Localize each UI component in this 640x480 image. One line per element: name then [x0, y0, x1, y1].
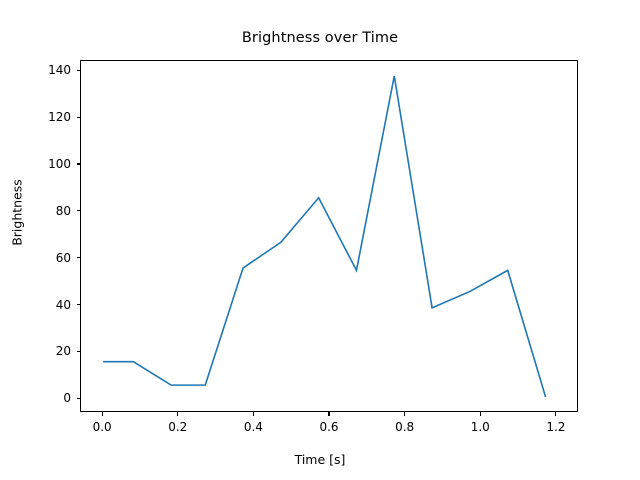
y-tick-label: 60 [20, 251, 71, 265]
x-tick-label: 0.2 [148, 420, 208, 434]
y-tick-label: 80 [20, 204, 71, 218]
x-tick-label: 0.8 [375, 420, 435, 434]
brightness-line-series [103, 76, 545, 397]
x-tick-label: 0.6 [299, 420, 359, 434]
y-tick-label: 40 [20, 298, 71, 312]
chart-title: Brightness over Time [0, 30, 640, 46]
x-axis-label: Time [s] [0, 452, 640, 467]
x-tick-label: 1.2 [526, 420, 586, 434]
x-tick-label: 0.0 [72, 420, 132, 434]
y-tick-label: 140 [20, 63, 71, 77]
y-tick-label: 0 [20, 391, 71, 405]
x-tick-label: 0.4 [223, 420, 283, 434]
x-tick-label: 1.0 [450, 420, 510, 434]
y-tick-label: 120 [20, 110, 71, 124]
y-tick-label: 20 [20, 344, 71, 358]
matplotlib-figure: Brightness over Time Brightness Time [s]… [0, 0, 640, 480]
data-canvas [81, 61, 579, 413]
plot-area [80, 60, 578, 412]
y-tick-label: 100 [20, 157, 71, 171]
